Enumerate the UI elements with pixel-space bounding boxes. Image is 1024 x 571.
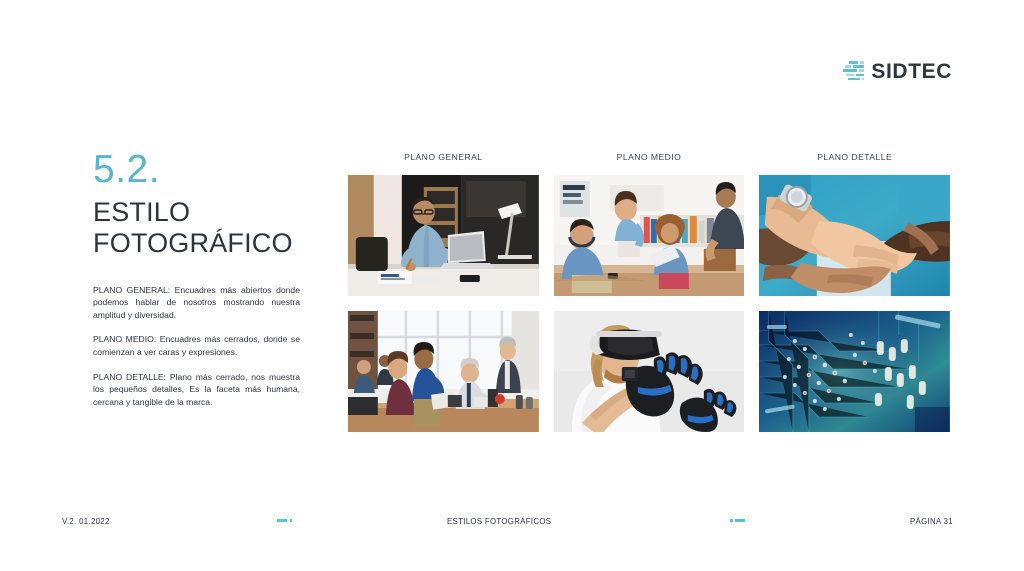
photo-man-at-desk-laptop: [348, 175, 539, 296]
brand-wordmark: SIDTEC: [871, 61, 952, 82]
gallery-headings: PLANO GENERAL PLANO MEDIO PLANO DETALLE: [348, 152, 950, 162]
slide-footer: V.2. 01.2022 ESTILOS FOTOGRÁFICOS PÁGINA…: [0, 512, 1024, 532]
paragraph-plano-general: PLANO GENERAL: Encuadres más abiertos do…: [93, 284, 300, 322]
page-title-line-1: ESTILO: [93, 197, 300, 228]
left-content-column: 5.2. ESTILO FOTOGRÁFICO PLANO GENERAL: E…: [93, 150, 300, 408]
slide-canvas: SIDTEC 5.2. ESTILO FOTOGRÁFICO PLANO GEN…: [0, 0, 1024, 571]
photo-hands-stacked-teamwork: [759, 175, 950, 296]
footer-page-number: PÁGINA 31: [910, 512, 953, 532]
footer-dash-mark-left-icon: [277, 519, 292, 522]
sidtec-bars-logo-icon: [843, 61, 865, 82]
brand-logo: SIDTEC: [843, 61, 952, 82]
description-block: PLANO GENERAL: Encuadres más abiertos do…: [93, 284, 300, 409]
footer-section-label: ESTILOS FOTOGRÁFICOS: [447, 512, 551, 532]
gallery-heading-plano-detalle: PLANO DETALLE: [759, 152, 950, 162]
footer-dash-mark-right-icon: [730, 519, 745, 522]
page-title-line-2: FOTOGRÁFICO: [93, 228, 300, 259]
gallery-heading-plano-general: PLANO GENERAL: [348, 152, 539, 162]
gallery-grid: [348, 175, 950, 432]
photo-gallery: PLANO GENERAL PLANO MEDIO PLANO DETALLE: [348, 152, 950, 432]
photo-circuit-board-macro: [759, 311, 950, 432]
photo-team-meeting-casual: [554, 175, 745, 296]
photo-vr-headset-gloves: [554, 311, 745, 432]
gallery-heading-plano-medio: PLANO MEDIO: [554, 152, 745, 162]
footer-version: V.2. 01.2022: [62, 512, 110, 532]
photo-open-office-people: [348, 311, 539, 432]
paragraph-plano-detalle: PLANO DETALLE: Plano más cerrado, nos mu…: [93, 371, 300, 409]
section-number: 5.2.: [93, 150, 300, 189]
paragraph-plano-medio: PLANO MEDIO: Encuadres más cerrados, don…: [93, 333, 300, 358]
page-title: ESTILO FOTOGRÁFICO: [93, 197, 300, 260]
